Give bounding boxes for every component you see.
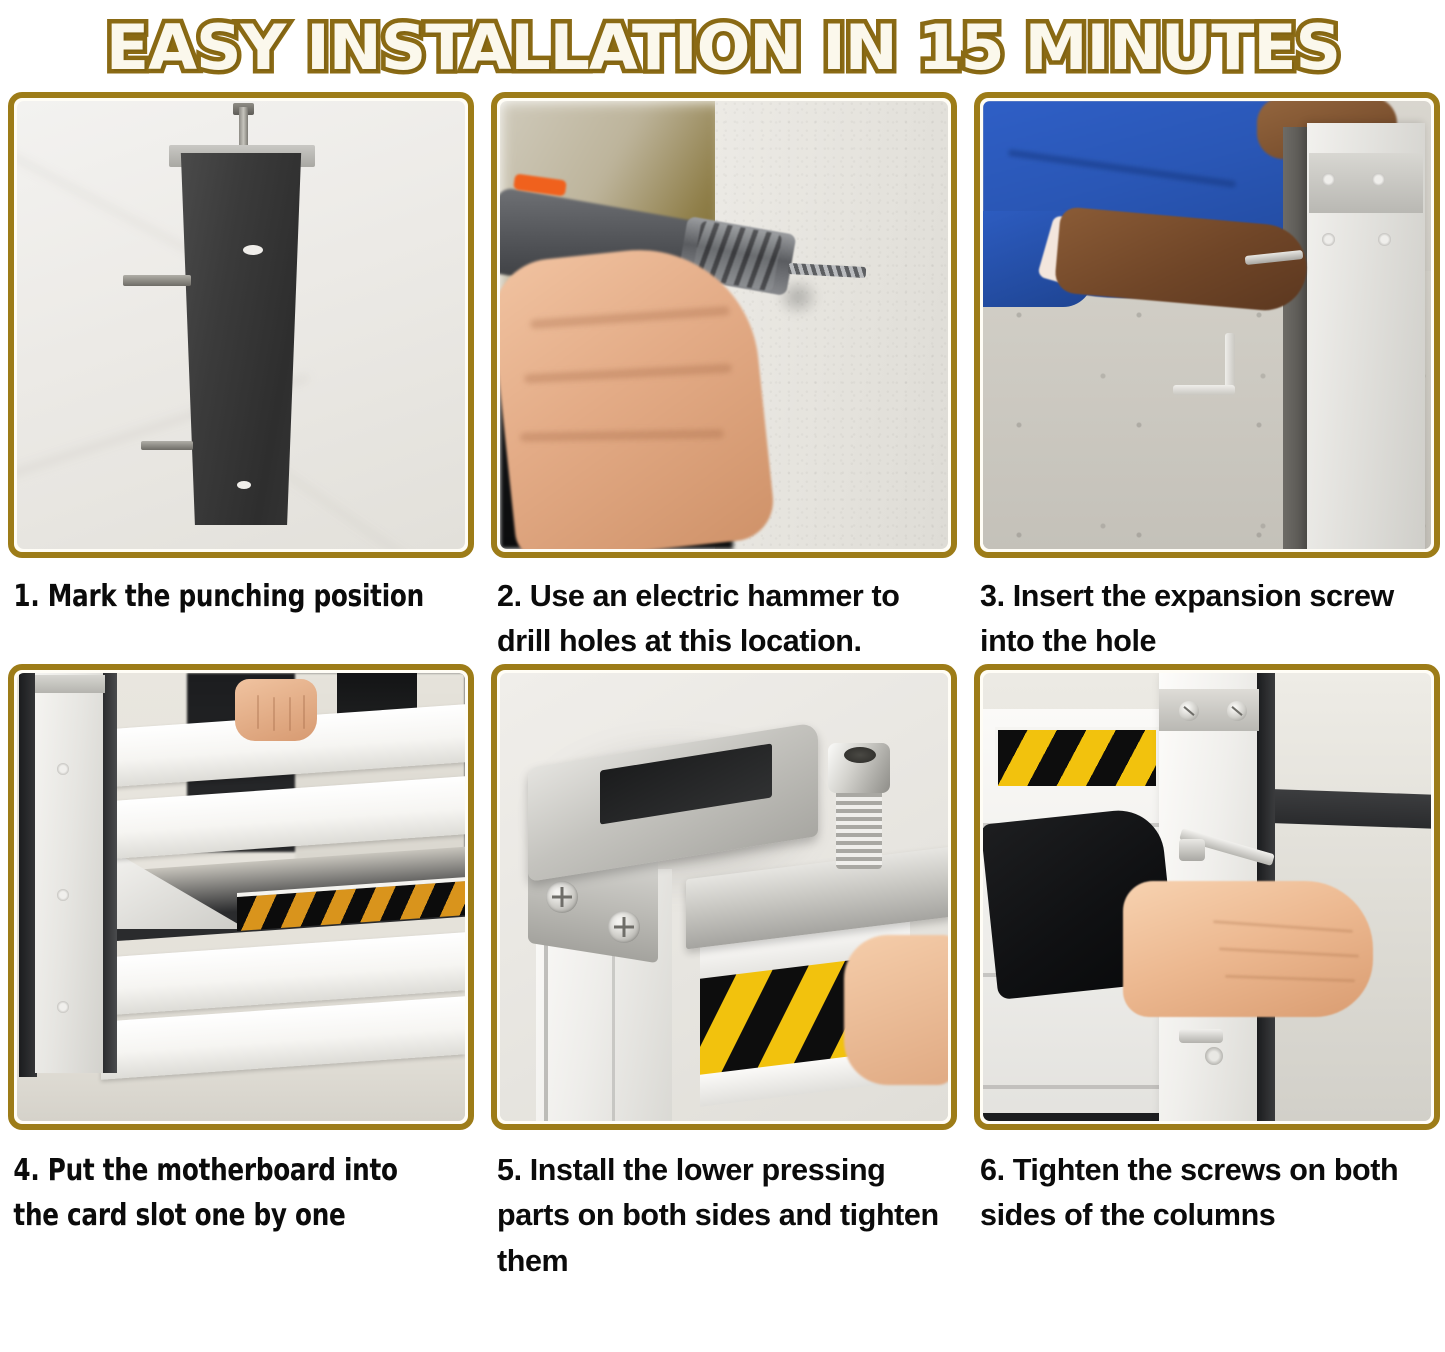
step-2-image-frame xyxy=(491,92,957,558)
hazard-stripe xyxy=(995,727,1159,789)
column-post-shape xyxy=(177,153,305,525)
phillips-screw-icon xyxy=(546,881,578,913)
photo-insert-boards-card-slot xyxy=(17,673,465,1121)
bolt-thread-shape xyxy=(836,781,882,869)
photo-drill-holes xyxy=(500,101,948,549)
step-card-5: 5. Install the lower pressing parts on b… xyxy=(491,664,964,1283)
step-6-image-frame xyxy=(974,664,1440,1130)
column-post-shape xyxy=(35,673,103,1073)
step-3-caption: 3. Insert the expansion screw into the h… xyxy=(974,574,1445,664)
page-title: EASY INSTALLATION IN 15 MINUTES xyxy=(105,17,1339,79)
step-card-1: 1. Mark the punching position xyxy=(8,92,481,664)
step-card-3: 3. Insert the expansion screw into the h… xyxy=(974,92,1445,664)
step-5-image-frame xyxy=(491,664,957,1130)
step-4-caption: 4. Put the motherboard into the card slo… xyxy=(8,1148,433,1238)
step-2-caption: 2. Use an electric hammer to drill holes… xyxy=(491,574,963,664)
photo-lower-pressing-parts xyxy=(500,673,948,1121)
step-4-image-frame xyxy=(8,664,474,1130)
step-6-caption: 6. Tighten the screws on both sides of t… xyxy=(974,1148,1445,1238)
step-1-image-frame xyxy=(8,92,474,558)
photo-mark-punching-position xyxy=(17,101,465,549)
step-1-caption: 1. Mark the punching position xyxy=(8,574,433,619)
thumb-shape xyxy=(844,935,948,1085)
photo-tighten-screws-columns xyxy=(983,673,1431,1121)
lower-screw-shape xyxy=(1179,1029,1223,1043)
step-3-image-frame xyxy=(974,92,1440,558)
step-card-6: 6. Tighten the screws on both sides of t… xyxy=(974,664,1445,1283)
header-banner: EASY INSTALLATION IN 15 MINUTES xyxy=(0,0,1445,92)
step-card-2: 2. Use an electric hammer to drill holes… xyxy=(491,92,964,664)
phillips-screw-icon xyxy=(608,911,640,943)
installation-steps-grid: 1. Mark the punching position 2. Use an … xyxy=(0,92,1445,1284)
photo-insert-expansion-screw xyxy=(983,101,1431,549)
step-card-4: 4. Put the motherboard into the card slo… xyxy=(8,664,481,1283)
step-5-caption: 5. Install the lower pressing parts on b… xyxy=(491,1148,963,1283)
